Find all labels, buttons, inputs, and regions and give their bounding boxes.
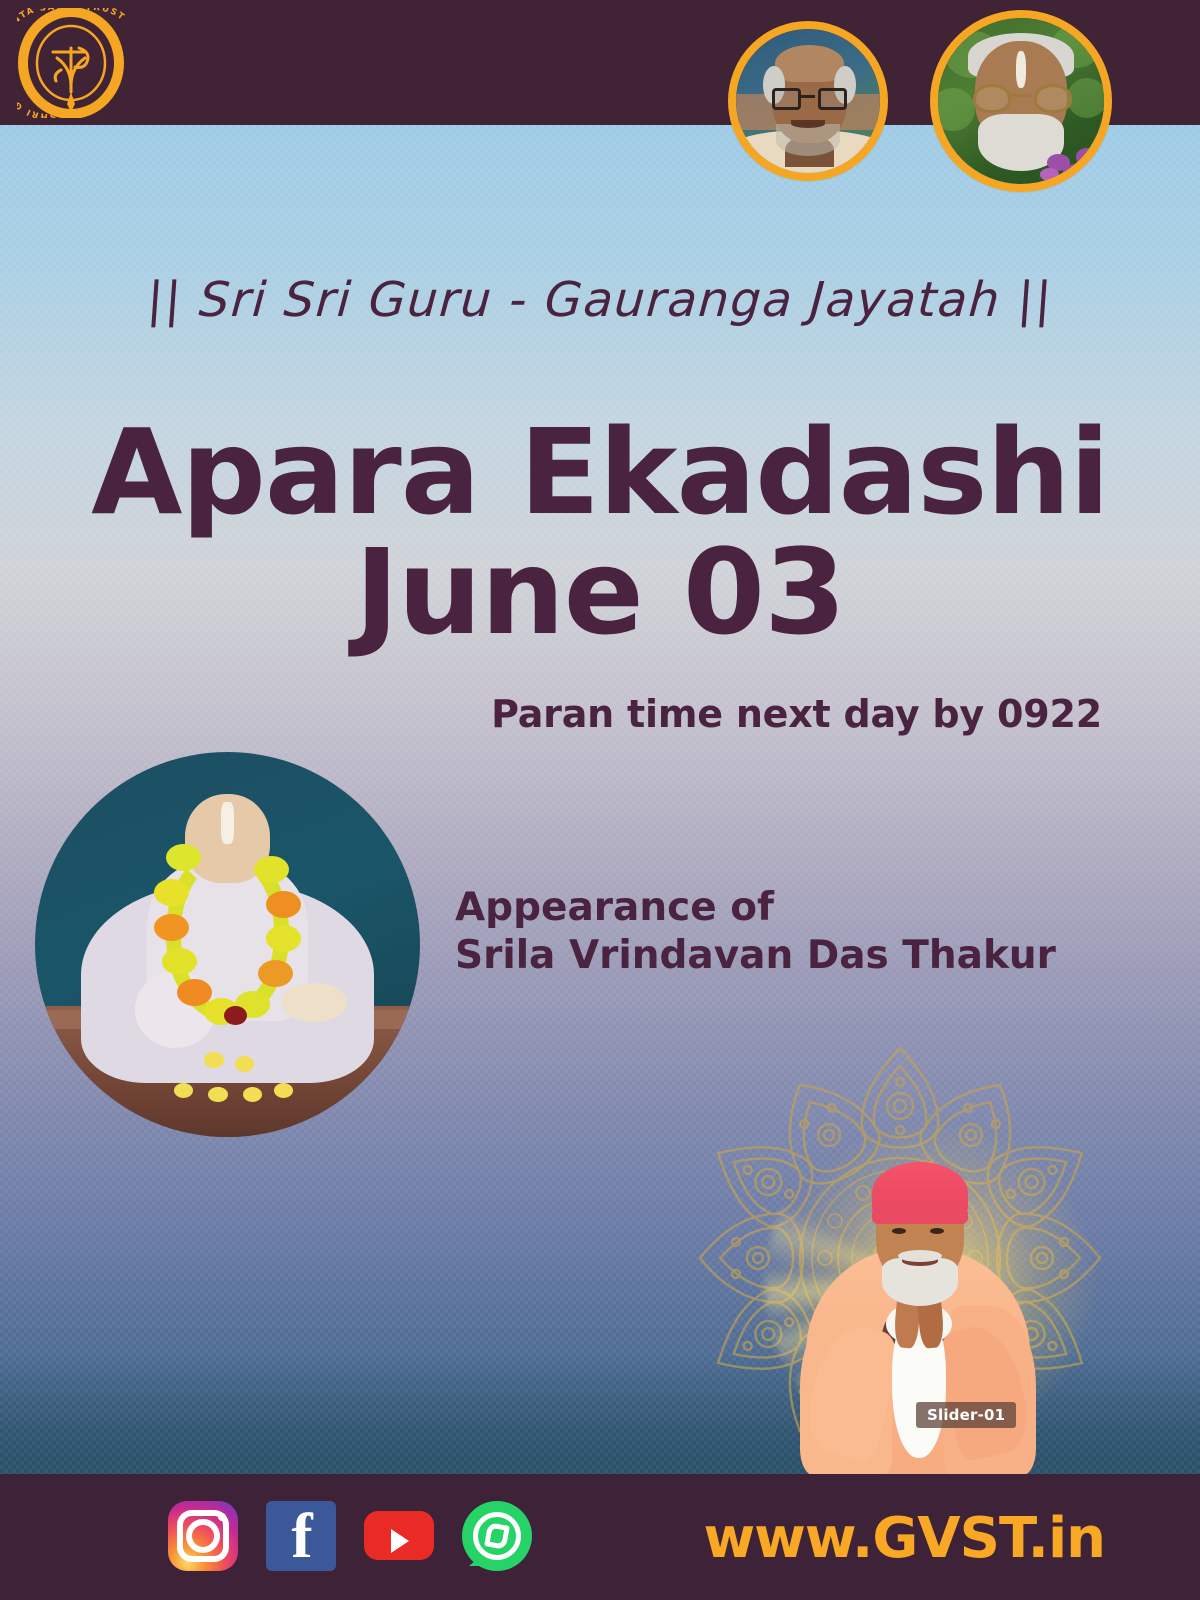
title-line-2: June 03 [0, 532, 1200, 652]
paran-time-note: Paran time next day by 0922 [491, 692, 1102, 736]
guru-left-photo [736, 29, 880, 173]
guru-right-photo [938, 18, 1104, 184]
title-line-1: Apara Ekadashi [91, 403, 1109, 541]
guru-portrait-right [930, 10, 1112, 192]
invocation-line: || Sri Sri Guru - Gauranga Jayatah || [0, 272, 1200, 328]
poster-root: SHRI GOUDIYA VEDANTA SAMITI TRUST Shri G… [0, 0, 1200, 1600]
instagram-icon[interactable] [168, 1501, 238, 1571]
website-url[interactable]: www.GVST.in [703, 1506, 1105, 1571]
mandala-monk-block: Slider-01 [620, 1018, 1200, 1474]
social-links: f [168, 1501, 532, 1571]
slider-watermark: Slider-01 [916, 1402, 1016, 1428]
appearance-line-2: Srila Vrindavan Das Thakur [455, 932, 1056, 980]
youtube-icon[interactable] [364, 1501, 434, 1571]
guru-portrait-left [728, 21, 888, 181]
main-title: Apara Ekadashi June 03 [0, 412, 1200, 653]
appearance-line-1: Appearance of [455, 884, 1056, 932]
deity-photo [35, 752, 420, 1137]
footer-bar: f www.GVST.in [0, 1474, 1200, 1600]
appearance-text: Appearance of Srila Vrindavan Das Thakur [455, 884, 1056, 981]
facebook-letter: f [266, 1501, 336, 1571]
trust-logo: SHRI GOUDIYA VEDANTA SAMITI TRUST [17, 8, 125, 118]
facebook-icon[interactable]: f [266, 1501, 336, 1571]
whatsapp-icon[interactable] [462, 1501, 532, 1571]
